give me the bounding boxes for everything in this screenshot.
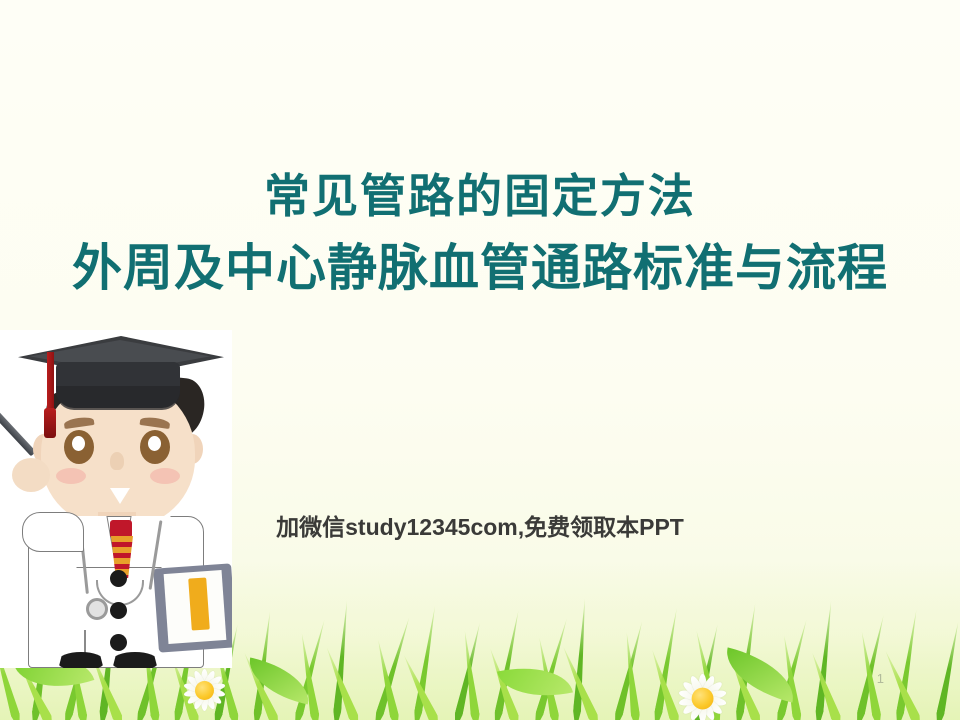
- title-block: 常见管路的固定方法 外周及中心静脉血管通路标准与流程: [0, 168, 960, 300]
- coat-button-2: [110, 602, 127, 619]
- page-number: 1: [877, 671, 884, 686]
- cheek-left: [56, 468, 86, 484]
- stethoscope-bell-icon: [86, 598, 108, 620]
- tassel-cord-icon: [47, 352, 54, 416]
- clipboard-tab: [188, 577, 210, 630]
- eye-right: [140, 430, 170, 464]
- cheek-right: [150, 468, 180, 484]
- page-title-line2: 外周及中心静脉血管通路标准与流程: [0, 236, 960, 300]
- presentation-slide: 常见管路的固定方法 外周及中心静脉血管通路标准与流程 加微信study12345…: [0, 0, 960, 720]
- raised-hand: [12, 458, 50, 492]
- graduation-cap-base-shadow: [56, 386, 180, 410]
- pointer-stick-icon: [0, 409, 36, 456]
- tassel-knot-icon: [44, 408, 56, 438]
- nose: [110, 452, 124, 470]
- daisy-core: [691, 687, 713, 709]
- coat-button-1: [110, 570, 127, 587]
- shoe-left: [58, 652, 104, 668]
- page-title-line1: 常见管路的固定方法: [0, 168, 960, 224]
- doctor-illustration: [0, 330, 232, 668]
- raised-arm: [22, 512, 84, 552]
- necktie-knot: [110, 520, 132, 538]
- shoe-right: [112, 652, 158, 668]
- eye-left: [64, 430, 94, 464]
- coat-button-3: [110, 634, 127, 651]
- daisy-core: [195, 681, 214, 700]
